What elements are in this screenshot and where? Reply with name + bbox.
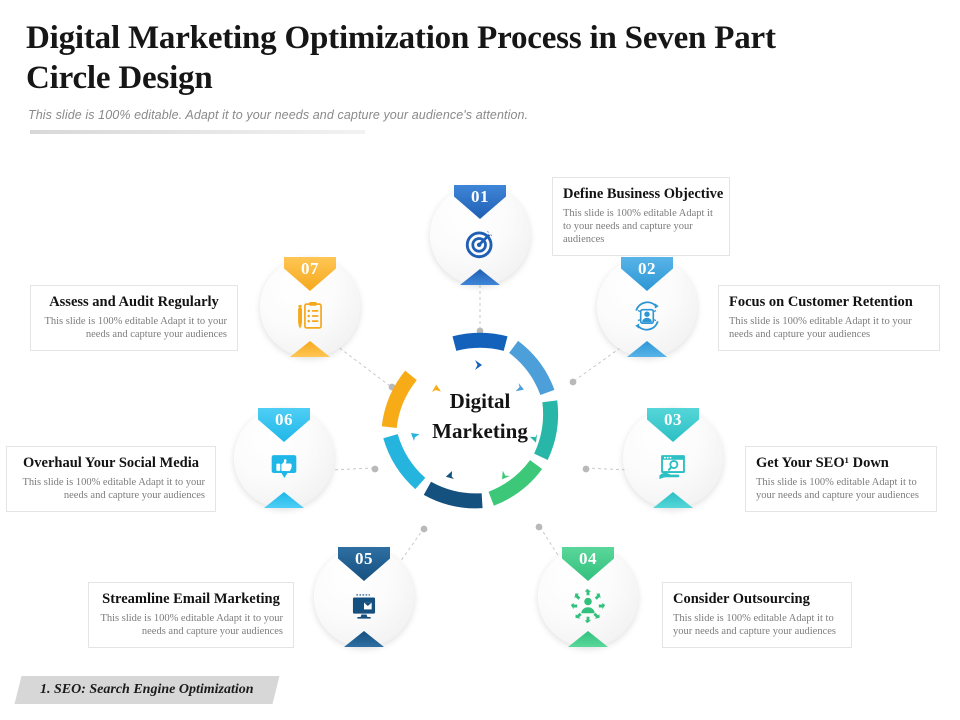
node-number-07: 07 xyxy=(284,259,336,279)
label-heading-03: Get Your SEO¹ Down xyxy=(756,454,926,472)
node-number-05: 05 xyxy=(338,549,390,569)
email-monitor-icon xyxy=(340,585,388,627)
node-03[interactable]: 03 xyxy=(623,408,723,508)
ring-segment-04 xyxy=(491,465,536,499)
label-body-07: This slide is 100% editable Adapt it to … xyxy=(41,315,227,341)
label-heading-01: Define Business Objective xyxy=(563,185,719,203)
target-icon xyxy=(456,223,504,265)
node-number-04: 04 xyxy=(562,549,614,569)
label-card-04[interactable]: Consider Outsourcing This slide is 100% … xyxy=(662,582,852,648)
node-07[interactable]: 07 xyxy=(260,257,360,357)
center-label: Digital Marketing xyxy=(370,386,590,446)
page-title: Digital Marketing Optimization Process i… xyxy=(26,18,786,98)
thumbs-up-bubble-icon xyxy=(260,446,308,488)
customer-retention-icon xyxy=(623,295,671,337)
label-card-05[interactable]: Streamline Email Marketing This slide is… xyxy=(88,582,294,648)
label-body-05: This slide is 100% editable Adapt it to … xyxy=(99,612,283,638)
label-body-04: This slide is 100% editable Adapt it to … xyxy=(673,612,841,638)
node-number-01: 01 xyxy=(454,187,506,207)
node-06[interactable]: 06 xyxy=(234,408,334,508)
center-label-line2: Marketing xyxy=(370,416,590,446)
node-number-03: 03 xyxy=(647,410,699,430)
node-number-02: 02 xyxy=(621,259,673,279)
center-label-line1: Digital xyxy=(370,386,590,416)
label-card-02[interactable]: Focus on Customer Retention This slide i… xyxy=(718,285,940,351)
label-card-07[interactable]: Assess and Audit Regularly This slide is… xyxy=(30,285,238,351)
label-body-03: This slide is 100% editable Adapt it to … xyxy=(756,476,926,502)
label-body-02: This slide is 100% editable Adapt it to … xyxy=(729,315,929,341)
title-underline-bar xyxy=(30,130,365,134)
label-heading-07: Assess and Audit Regularly xyxy=(41,293,227,311)
seo-search-icon xyxy=(649,446,697,488)
ring-segment-05 xyxy=(427,488,482,501)
node-01[interactable]: 01 xyxy=(430,185,530,285)
ring-segment-01 xyxy=(454,340,505,343)
seven-part-circle-diagram: Digital Marketing 01 02 xyxy=(0,150,960,670)
slide-header: Digital Marketing Optimization Process i… xyxy=(0,0,960,150)
label-body-06: This slide is 100% editable Adapt it to … xyxy=(17,476,205,502)
page-subtitle: This slide is 100% editable. Adapt it to… xyxy=(28,108,528,122)
footnote-text: 1. SEO: Search Engine Optimization xyxy=(40,682,254,698)
node-04[interactable]: 04 xyxy=(538,547,638,647)
footnote-banner: 1. SEO: Search Engine Optimization xyxy=(15,676,280,704)
node-02[interactable]: 02 xyxy=(597,257,697,357)
label-heading-05: Streamline Email Marketing xyxy=(99,590,283,608)
label-heading-06: Overhaul Your Social Media xyxy=(17,454,205,472)
label-card-06[interactable]: Overhaul Your Social Media This slide is… xyxy=(6,446,216,512)
node-number-06: 06 xyxy=(258,410,310,430)
label-heading-02: Focus on Customer Retention xyxy=(729,293,929,311)
label-body-01: This slide is 100% editable Adapt it to … xyxy=(563,207,719,246)
clipboard-checklist-icon xyxy=(286,295,334,337)
label-heading-04: Consider Outsourcing xyxy=(673,590,841,608)
node-05[interactable]: 05 xyxy=(314,547,414,647)
outsourcing-network-icon xyxy=(564,585,612,627)
label-card-01[interactable]: Define Business Objective This slide is … xyxy=(552,177,730,256)
label-card-03[interactable]: Get Your SEO¹ Down This slide is 100% ed… xyxy=(745,446,937,512)
